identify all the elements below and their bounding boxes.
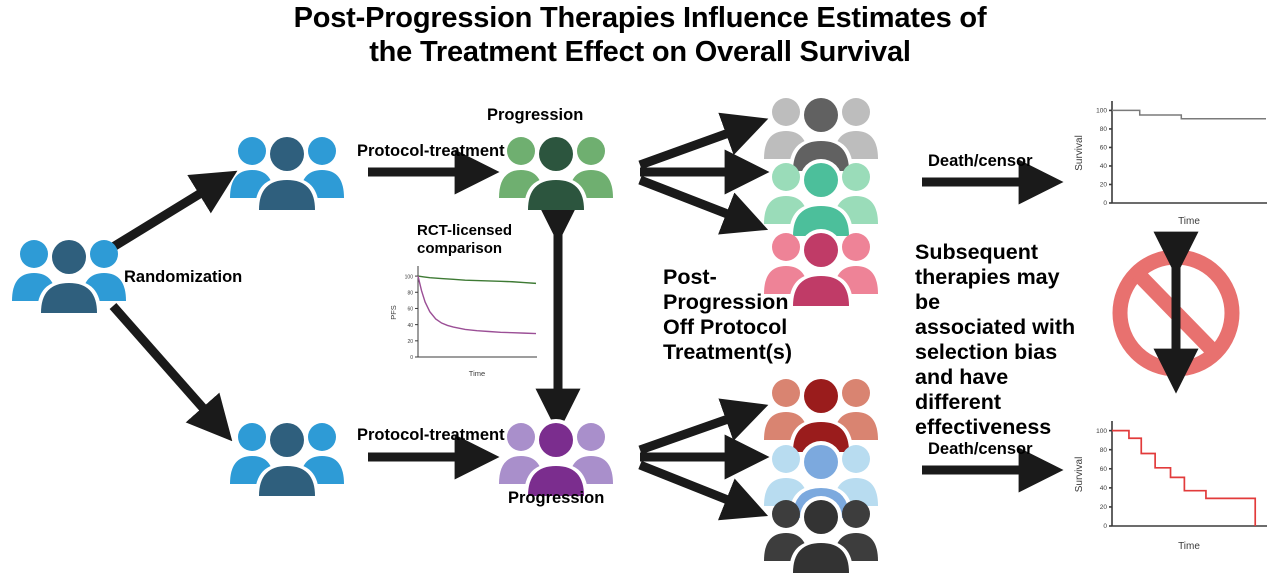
people-group-icon-top-arm bbox=[228, 132, 346, 210]
svg-text:100: 100 bbox=[1096, 108, 1107, 115]
subsequent-line-1: Subsequent bbox=[915, 240, 1080, 265]
label-protocol-treatment-top: Protocol-treatment bbox=[357, 142, 505, 160]
svg-text:0: 0 bbox=[410, 355, 413, 361]
rct-chart-title: RCT-licensed comparison bbox=[417, 222, 557, 257]
km-top-chart: 020406080100TimeSurvival bbox=[1068, 95, 1268, 225]
rct-pfs-chart: 020406080100TimePFS bbox=[388, 262, 538, 377]
svg-text:20: 20 bbox=[1100, 182, 1108, 189]
arrow-randomize-to-bottom bbox=[113, 306, 218, 425]
post-progression-line-4: Treatment(s) bbox=[663, 340, 793, 365]
svg-text:60: 60 bbox=[407, 307, 413, 313]
post-progression-line-1: Post- bbox=[663, 265, 793, 290]
svg-text:0: 0 bbox=[1103, 523, 1107, 530]
subsequent-line-4: selection bias bbox=[915, 340, 1080, 365]
arrow-fan-top bbox=[640, 126, 748, 222]
people-group-icon-bottom-arm bbox=[228, 418, 346, 496]
svg-text:80: 80 bbox=[1100, 126, 1108, 133]
svg-text:80: 80 bbox=[1100, 447, 1108, 454]
label-progression-bottom: Progression bbox=[508, 489, 604, 507]
subsequent-line-5: and have bbox=[915, 365, 1080, 390]
diagram-canvas: Post-Progression Therapies Influence Est… bbox=[0, 0, 1280, 573]
rct-chart-title-line-2: comparison bbox=[417, 240, 557, 258]
people-group-icon-bottom-progression bbox=[497, 418, 615, 496]
label-randomization: Randomization bbox=[124, 268, 242, 286]
people-group-icon-randomized-cohort bbox=[10, 235, 128, 313]
svg-text:0: 0 bbox=[1103, 200, 1107, 207]
svg-text:40: 40 bbox=[407, 323, 413, 329]
label-post-progression-block: Post- Progression Off Protocol Treatment… bbox=[663, 265, 793, 365]
people-group-icon-subsequent-charcoal bbox=[762, 495, 880, 573]
svg-text:100: 100 bbox=[405, 274, 414, 280]
rct-chart-title-line-1: RCT-licensed bbox=[417, 222, 557, 240]
km-bottom-chart: 020406080100TimeSurvival bbox=[1068, 415, 1268, 550]
subsequent-line-7: effectiveness bbox=[915, 415, 1080, 440]
label-subsequent-therapies-block: Subsequent therapies may be associated w… bbox=[915, 240, 1080, 440]
subsequent-line-3: associated with bbox=[915, 315, 1080, 340]
post-progression-line-3: Off Protocol bbox=[663, 315, 793, 340]
label-protocol-treatment-bottom: Protocol-treatment bbox=[357, 426, 505, 444]
people-group-icon-subsequent-teal bbox=[762, 158, 880, 236]
svg-text:100: 100 bbox=[1096, 428, 1107, 435]
svg-text:PFS: PFS bbox=[389, 305, 398, 320]
svg-text:20: 20 bbox=[407, 339, 413, 345]
svg-text:Time: Time bbox=[1178, 541, 1200, 550]
label-death-censor-bottom: Death/censor bbox=[928, 440, 1033, 458]
subsequent-line-6: different bbox=[915, 390, 1080, 415]
arrow-fan-bottom bbox=[640, 412, 748, 508]
svg-text:40: 40 bbox=[1100, 485, 1108, 492]
label-death-censor-top: Death/censor bbox=[928, 152, 1033, 170]
svg-text:Time: Time bbox=[1178, 216, 1200, 225]
svg-text:60: 60 bbox=[1100, 466, 1108, 473]
svg-text:80: 80 bbox=[407, 290, 413, 296]
arrow-randomize-to-top bbox=[113, 182, 219, 247]
people-group-icon-top-progression bbox=[497, 132, 615, 210]
svg-text:Time: Time bbox=[469, 369, 485, 377]
svg-text:Survival: Survival bbox=[1074, 457, 1085, 493]
label-progression-top: Progression bbox=[487, 106, 583, 124]
svg-text:20: 20 bbox=[1100, 504, 1108, 511]
svg-text:Survival: Survival bbox=[1074, 135, 1085, 171]
post-progression-line-2: Progression bbox=[663, 290, 793, 315]
subsequent-line-2: therapies may be bbox=[915, 265, 1080, 315]
svg-text:40: 40 bbox=[1100, 163, 1108, 170]
svg-text:60: 60 bbox=[1100, 145, 1108, 152]
